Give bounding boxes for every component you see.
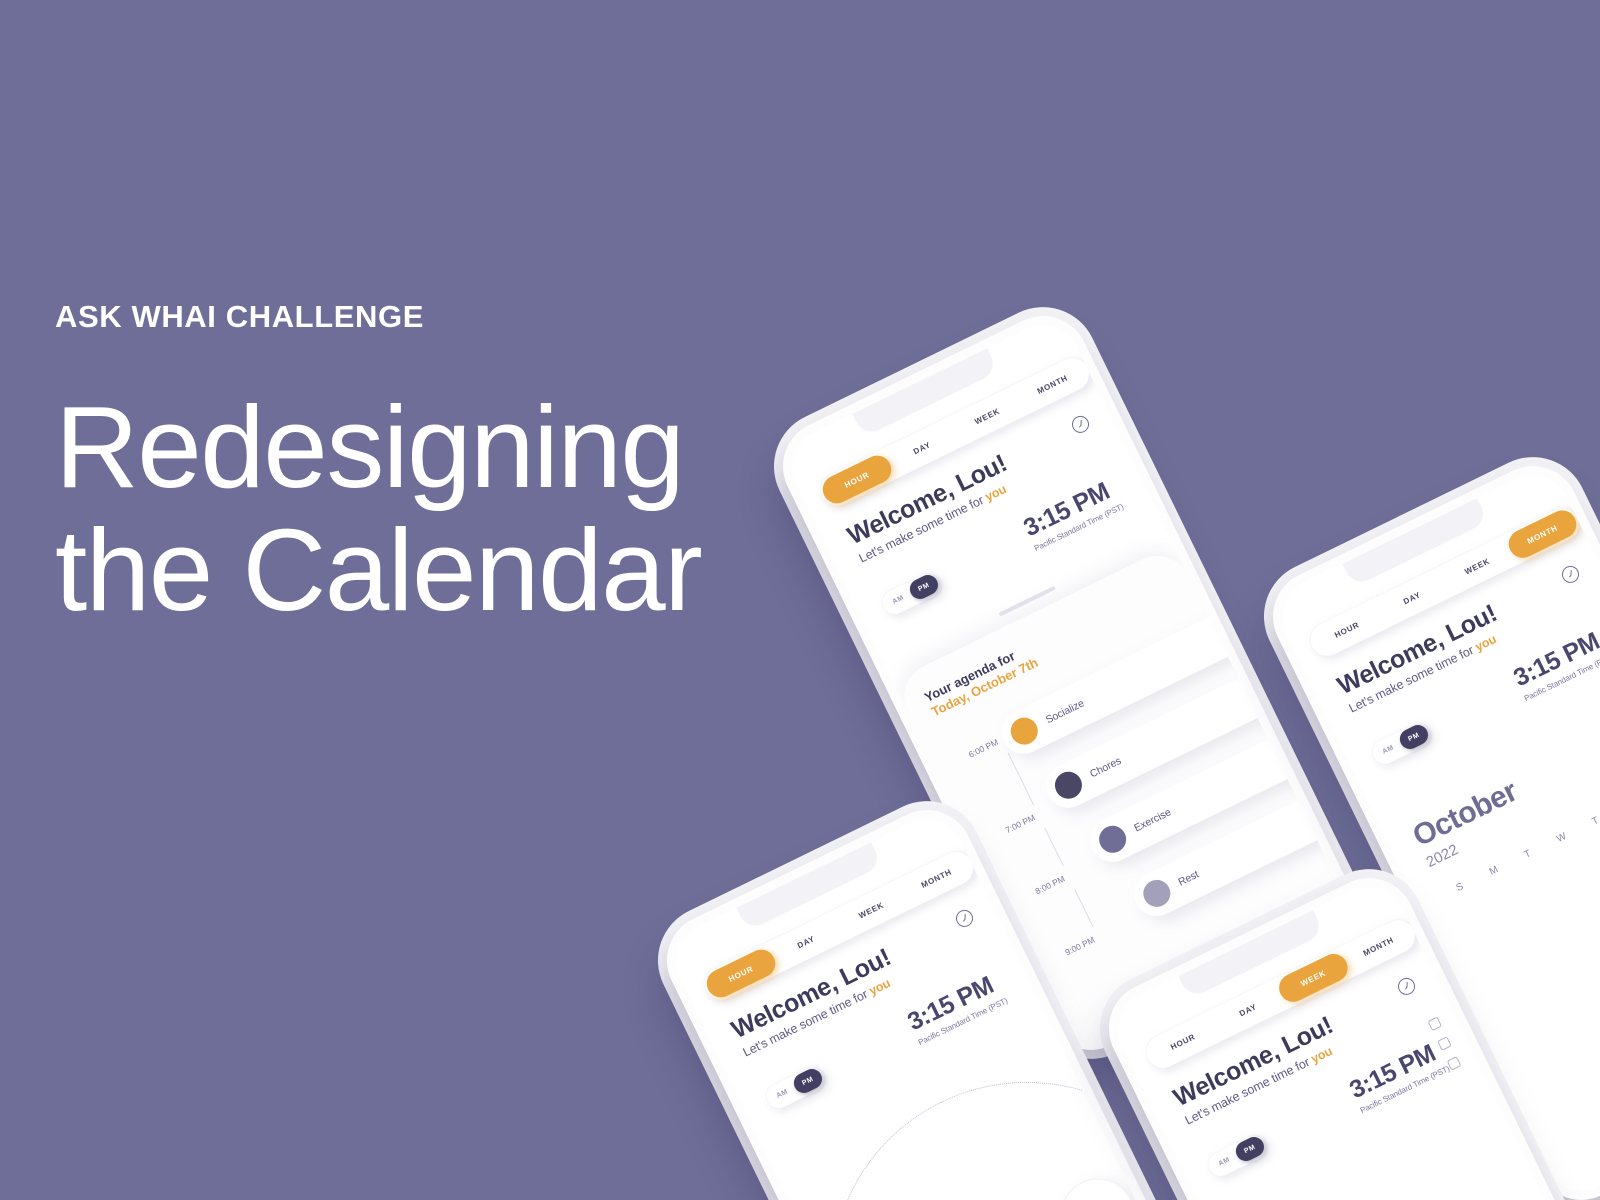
timeline-tick <box>1074 889 1093 927</box>
tab-month[interactable]: MONTH <box>1340 918 1417 975</box>
ampm-toggle[interactable]: AM PM <box>1204 1131 1271 1181</box>
timeline-label-9pm: 9:00 PM <box>1050 934 1096 963</box>
current-time-block: 3:15 PM Pacific Standard Time (PST) <box>1020 473 1130 553</box>
timeline-label-8pm: 8:00 PM <box>1020 873 1066 902</box>
timeline-tick <box>1044 828 1063 866</box>
weekday-sun: S <box>1441 874 1480 900</box>
tab-day[interactable]: DAY <box>883 419 960 476</box>
event-label: Chores <box>1088 754 1123 779</box>
tab-day[interactable]: DAY <box>767 913 844 970</box>
week-checkbox[interactable] <box>1427 1016 1442 1031</box>
tab-hour[interactable]: HOUR <box>1308 601 1385 658</box>
event-color-dot <box>1095 821 1131 857</box>
tab-month[interactable]: MONTH <box>1504 506 1581 563</box>
phone-mockup-stage: HOUR DAY WEEK MONTH Welcome, Lou! Let's … <box>0 0 1600 1200</box>
ampm-toggle[interactable]: AM PM <box>878 569 945 619</box>
event-label: Exercise <box>1132 806 1173 834</box>
weekday-wed: W <box>1542 825 1581 851</box>
timeline-tick <box>1008 752 1034 805</box>
tab-week[interactable]: WEEK <box>832 882 909 939</box>
tab-month[interactable]: MONTH <box>898 850 975 907</box>
weekday-tue: T <box>1508 841 1547 867</box>
event-color-dot <box>1006 713 1042 749</box>
current-time-block: 3:15 PM Pacific Standard Time (PST) <box>1346 1035 1456 1115</box>
clock-icon[interactable] <box>1069 413 1092 436</box>
tab-month[interactable]: MONTH <box>1014 356 1091 413</box>
timeline-label-7pm: 7:00 PM <box>991 812 1037 841</box>
tab-hour[interactable]: HOUR <box>702 945 779 1002</box>
weekday-thu: T <box>1576 808 1600 834</box>
tab-hour[interactable]: HOUR <box>1144 1013 1221 1070</box>
event-color-dot <box>1139 875 1175 911</box>
event-color-dot <box>1050 767 1086 803</box>
event-label: Socialize <box>1044 697 1086 726</box>
current-time-block: 3:15 PM Pacific Standard Time (PST) <box>904 967 1014 1047</box>
current-time-block: 3:15 PM Pacific Standard Time (PST) <box>1510 623 1600 703</box>
event-label: Rest <box>1176 868 1200 888</box>
tab-week[interactable]: WEEK <box>948 388 1025 445</box>
tab-day[interactable]: DAY <box>1209 981 1286 1038</box>
tab-week[interactable]: WEEK <box>1438 538 1515 595</box>
tab-day[interactable]: DAY <box>1373 569 1450 626</box>
clock-icon[interactable] <box>953 907 976 930</box>
tab-hour[interactable]: HOUR <box>818 451 895 508</box>
clock-icon[interactable] <box>1559 563 1582 586</box>
ampm-toggle[interactable]: AM PM <box>762 1063 829 1113</box>
ampm-toggle[interactable]: AM PM <box>1368 719 1435 769</box>
tab-week[interactable]: WEEK <box>1274 950 1351 1007</box>
weekday-mon: M <box>1474 858 1513 884</box>
clock-icon[interactable] <box>1395 975 1418 998</box>
timeline-label-6pm: 6:00 PM <box>954 736 1000 765</box>
